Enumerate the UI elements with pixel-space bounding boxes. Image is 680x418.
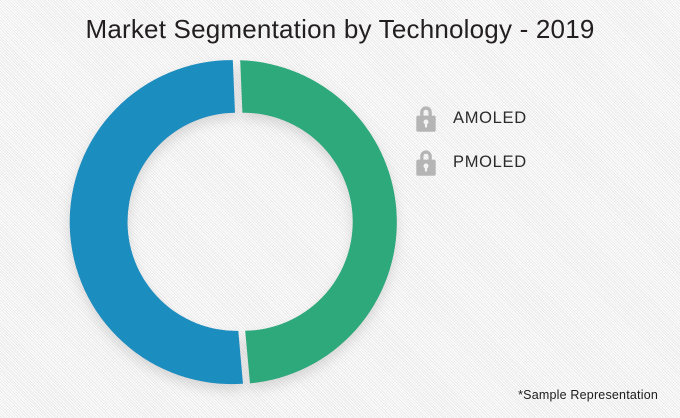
legend-item-pmoled[interactable]: PMOLED	[413, 140, 593, 184]
legend-item-amoled[interactable]: AMOLED	[413, 96, 593, 140]
chart-title: Market Segmentation by Technology - 2019	[0, 14, 680, 45]
donut-slice-amoled[interactable]	[240, 60, 397, 383]
lock-icon	[413, 147, 439, 177]
donut-slice-pmoled[interactable]	[70, 60, 243, 384]
donut-chart	[73, 60, 397, 384]
lock-icon	[413, 103, 439, 133]
legend-label-pmoled: PMOLED	[453, 153, 527, 172]
sample-representation-note: *Sample Representation	[518, 388, 658, 402]
donut-chart-svg	[73, 60, 397, 384]
chart-canvas: Market Segmentation by Technology - 2019…	[0, 0, 680, 418]
legend-label-amoled: AMOLED	[453, 109, 527, 128]
chart-legend: AMOLED PMOLED	[413, 96, 593, 184]
